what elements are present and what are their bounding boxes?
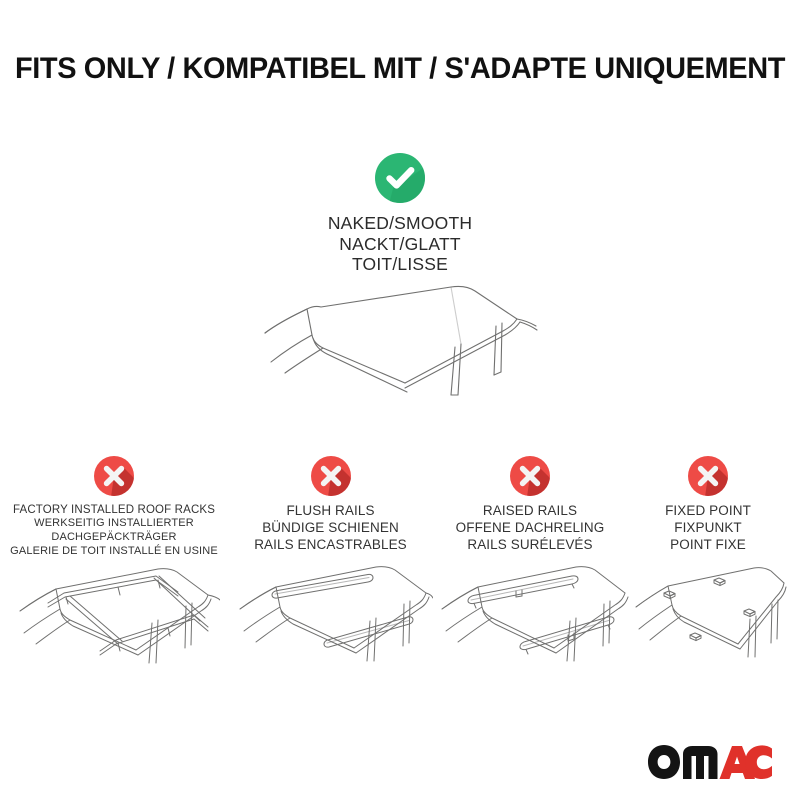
logo-letter-o [648, 745, 680, 779]
incompatible-item-factory-installed-roof-racks: FACTORY INSTALLED ROOF RACKS WERKSEITIG … [8, 455, 220, 559]
incompatible-label-de-line2: DACHGEPÄCKTRÄGER [8, 531, 220, 545]
incompatible-label-de-line1: WERKSEITIG INSTALLIERTER [8, 517, 220, 531]
roof-rack-crossbars-illustration [8, 551, 220, 691]
incompatible-item-raised-rails: RAISED RAILS OFFENE DACHRELING RAILS SUR… [430, 455, 630, 554]
incompatible-label-en: FACTORY INSTALLED ROOF RACKS [8, 503, 220, 517]
incompatible-label-de: OFFENE DACHRELING [430, 520, 630, 537]
incompatible-labels: RAISED RAILS OFFENE DACHRELING RAILS SUR… [430, 503, 630, 554]
compatible-labels: NAKED/SMOOTH NACKT/GLATT TOIT/LISSE [0, 213, 800, 275]
compatible-label-fr: TOIT/LISSE [0, 254, 800, 275]
incompatible-labels: FLUSH RAILS BÜNDIGE SCHIENEN RAILS ENCAS… [228, 503, 433, 554]
incompatible-section: FACTORY INSTALLED ROOF RACKS WERKSEITIG … [0, 455, 800, 715]
check-circle-icon [374, 152, 426, 204]
x-circle-icon [310, 455, 352, 497]
compatible-label-en: NAKED/SMOOTH [0, 213, 800, 234]
smooth-roof-illustration [255, 275, 565, 425]
omac-logo [646, 742, 774, 782]
page-title: FITS ONLY / KOMPATIBEL MIT / S'ADAPTE UN… [0, 52, 800, 86]
compatible-section: NAKED/SMOOTH NACKT/GLATT TOIT/LISSE [0, 152, 800, 275]
incompatible-label-en: FLUSH RAILS [228, 503, 433, 520]
incompatible-item-flush-rails: FLUSH RAILS BÜNDIGE SCHIENEN RAILS ENCAS… [228, 455, 433, 554]
x-circle-icon [93, 455, 135, 497]
incompatible-label-de: FIXPUNKT [628, 520, 788, 537]
x-circle-icon [509, 455, 551, 497]
incompatible-label-en: FIXED POINT [628, 503, 788, 520]
compatible-label-de: NACKT/GLATT [0, 234, 800, 255]
flush-rails-illustration [228, 551, 433, 691]
raised-rails-illustration [430, 551, 630, 691]
incompatible-item-fixed-point: FIXED POINT FIXPUNKT POINT FIXE [628, 455, 788, 554]
x-circle-icon [687, 455, 729, 497]
incompatible-label-de: BÜNDIGE SCHIENEN [228, 520, 433, 537]
incompatible-label-en: RAISED RAILS [430, 503, 630, 520]
fixed-point-illustration [628, 551, 788, 691]
incompatible-labels: FIXED POINT FIXPUNKT POINT FIXE [628, 503, 788, 554]
page-title-text: FITS ONLY / KOMPATIBEL MIT / S'ADAPTE UN… [15, 52, 785, 86]
logo-letter-m [683, 746, 718, 779]
